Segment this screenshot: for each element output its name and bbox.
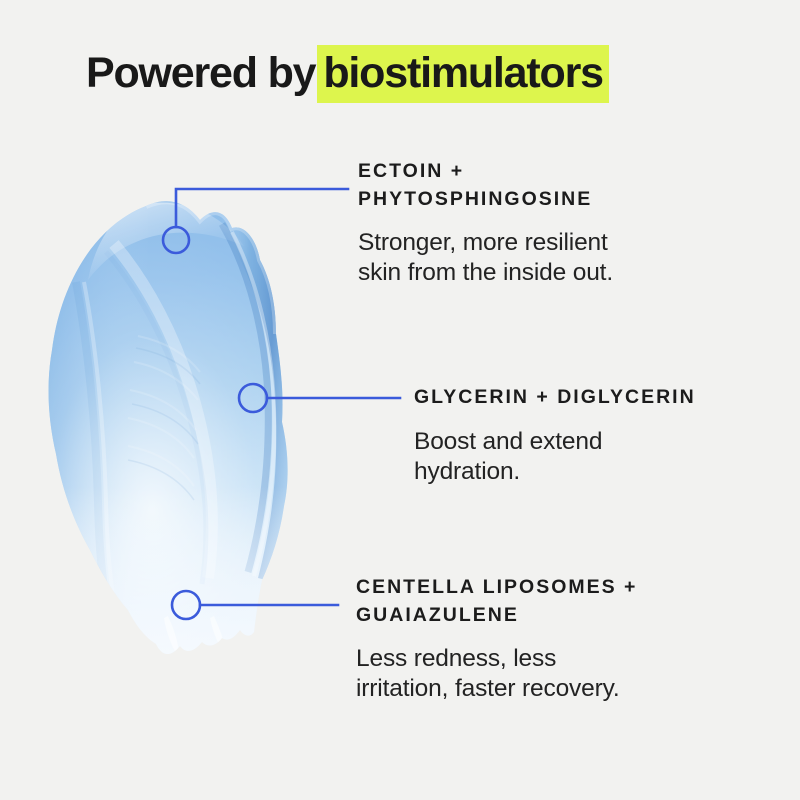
callout-centella-title: CENTELLA LIPOSOMES + GUAIAZULENE [356,574,766,629]
callout-centella-body: Less redness, less irritation, faster re… [356,644,766,704]
callout-ectoin-title-line2: PHYTOSPHINGOSINE [358,186,758,214]
callout-glycerin-body-line1: Boost and extend [414,427,794,457]
callout-ectoin-body: Stronger, more resilient skin from the i… [358,228,758,288]
callout-centella-body-line1: Less redness, less [356,644,766,674]
ingredient-infographic: Powered bybiostimulators [0,0,800,800]
callout-centella: CENTELLA LIPOSOMES + GUAIAZULENE Less re… [356,574,766,704]
callout-centella-body-line2: irritation, faster recovery. [356,674,766,704]
callout-glycerin-title: GLYCERIN + DIGLYCERIN [414,384,794,412]
callout-glycerin-title-line1: GLYCERIN + DIGLYCERIN [414,384,794,412]
callout-ectoin-body-line2: skin from the inside out. [358,258,758,288]
page-title: Powered bybiostimulators [86,48,609,99]
callout-glycerin: GLYCERIN + DIGLYCERIN Boost and extend h… [414,384,794,486]
callout-glycerin-body: Boost and extend hydration. [414,427,794,487]
page-title-plain: Powered by [86,49,315,97]
callout-ectoin-title: ECTOIN + PHYTOSPHINGOSINE [358,158,758,213]
callout-centella-title-line1: CENTELLA LIPOSOMES + [356,574,766,602]
callout-ectoin: ECTOIN + PHYTOSPHINGOSINE Stronger, more… [358,158,758,288]
cream-swatch-image [18,186,338,706]
callout-ectoin-body-line1: Stronger, more resilient [358,228,758,258]
callout-centella-title-line2: GUAIAZULENE [356,602,766,630]
callout-ectoin-title-line1: ECTOIN + [358,158,758,186]
callout-glycerin-body-line2: hydration. [414,457,794,487]
page-title-highlight: biostimulators [317,45,608,103]
